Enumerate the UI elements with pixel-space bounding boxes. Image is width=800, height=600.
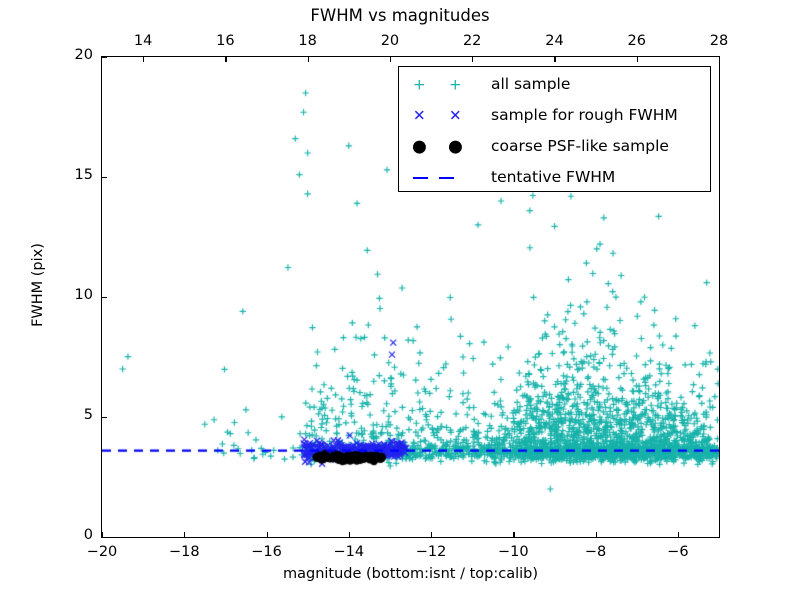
tick-mark-x-bottom xyxy=(678,532,679,537)
tick-label-x-top: 26 xyxy=(607,33,667,49)
legend-marker-plus-icon: + + xyxy=(399,69,483,100)
legend-marker-circle-icon: ● ● xyxy=(399,131,483,162)
legend-box: + + all sample ✕ ✕ sample for rough FWHM… xyxy=(398,66,711,192)
tick-mark-x-top xyxy=(637,57,638,62)
tick-label-x-bottom: −14 xyxy=(319,544,379,560)
tick-label-x-top: 18 xyxy=(278,33,338,49)
tick-label-x-top: 14 xyxy=(113,33,173,49)
tick-label-x-bottom: −12 xyxy=(401,544,461,560)
x-axis-label: magnitude (bottom:isnt / top:calib) xyxy=(101,566,720,582)
tick-label-x-top: 24 xyxy=(524,33,584,49)
tick-label-x-bottom: −6 xyxy=(648,544,708,560)
tick-mark-x-bottom xyxy=(267,532,268,537)
legend-marker-cross-icon: ✕ ✕ xyxy=(399,100,483,131)
tick-mark-x-bottom xyxy=(513,532,514,537)
legend-entry-rough-fwhm: ✕ ✕ sample for rough FWHM xyxy=(399,100,712,131)
tick-label-y: 20 xyxy=(45,47,93,63)
tick-label-y: 5 xyxy=(45,407,93,423)
tick-label-y: 10 xyxy=(45,287,93,303)
tick-mark-y xyxy=(102,57,107,58)
tick-mark-x-top xyxy=(390,57,391,62)
legend-entry-coarse-psf: ● ● coarse PSF-like sample xyxy=(399,131,712,162)
tick-mark-x-bottom xyxy=(431,532,432,537)
legend-marker-dashed-line-icon xyxy=(399,162,483,193)
y-axis-label: FWHM (pix) xyxy=(30,165,46,405)
tick-mark-x-bottom xyxy=(349,532,350,537)
figure-canvas: FWHM vs magnitudes 1416182022242628 −20−… xyxy=(0,0,800,600)
tick-mark-y xyxy=(102,537,107,538)
legend-entry-tentative-fwhm: tentative FWHM xyxy=(399,162,712,193)
tick-label-x-bottom: −8 xyxy=(566,544,626,560)
legend-label-all-sample: all sample xyxy=(491,72,570,97)
tick-label-y: 15 xyxy=(45,167,93,183)
tick-label-x-top: 20 xyxy=(360,33,420,49)
tick-mark-y xyxy=(102,297,107,298)
tick-label-x-top: 28 xyxy=(689,33,749,49)
tick-label-y: 0 xyxy=(45,527,93,543)
tick-mark-x-top xyxy=(554,57,555,62)
tick-mark-x-top xyxy=(719,57,720,62)
tick-mark-x-top xyxy=(308,57,309,62)
tick-mark-x-bottom xyxy=(596,532,597,537)
tick-label-x-bottom: −20 xyxy=(72,544,132,560)
tick-mark-x-top xyxy=(225,57,226,62)
legend-label-coarse-psf: coarse PSF-like sample xyxy=(491,134,669,159)
y-axis-label-wrap: FWHM (pix) xyxy=(18,56,38,538)
tick-label-x-bottom: −18 xyxy=(154,544,214,560)
tick-mark-y xyxy=(102,417,107,418)
page-title: FWHM vs magnitudes xyxy=(0,6,800,25)
tick-mark-x-bottom xyxy=(184,532,185,537)
tick-label-x-top: 22 xyxy=(442,33,502,49)
tick-label-x-bottom: −10 xyxy=(483,544,543,560)
tick-mark-x-top xyxy=(143,57,144,62)
tick-mark-y xyxy=(102,177,107,178)
tick-label-x-bottom: −16 xyxy=(237,544,297,560)
tick-mark-x-top xyxy=(472,57,473,62)
legend-entry-all-sample: + + all sample xyxy=(399,69,712,100)
tick-label-x-top: 16 xyxy=(195,33,255,49)
legend-label-rough-fwhm: sample for rough FWHM xyxy=(491,103,678,128)
legend-label-tentative-fwhm: tentative FWHM xyxy=(491,165,615,190)
